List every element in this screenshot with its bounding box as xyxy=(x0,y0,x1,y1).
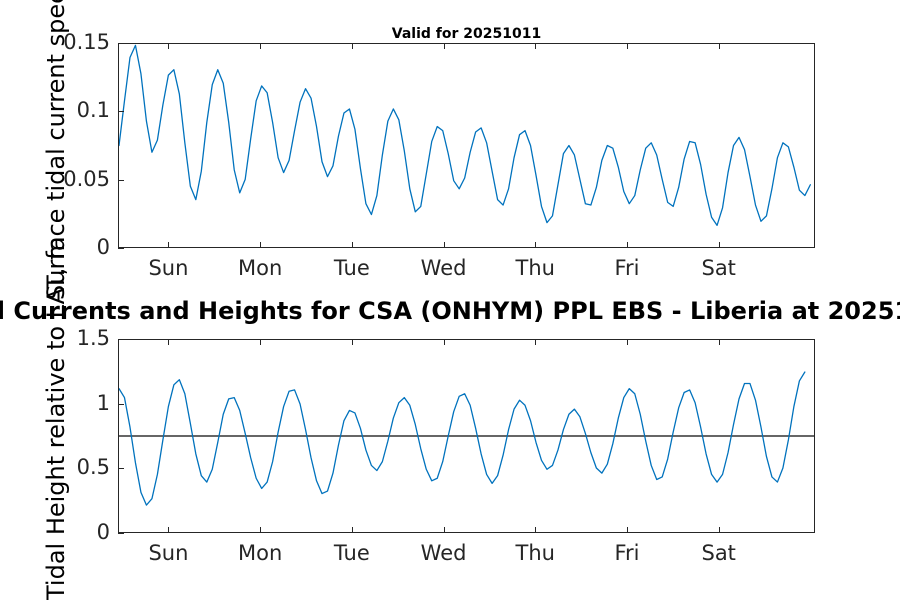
x-tick-label-0-1: Mon xyxy=(215,258,305,279)
x-tick-mark xyxy=(352,527,353,533)
y-tick-mark xyxy=(118,468,124,469)
x-tick-mark-top xyxy=(444,43,445,49)
x-tick-label-1-0: Sun xyxy=(123,543,213,564)
x-tick-mark-top xyxy=(260,43,261,49)
chart-tidal-height xyxy=(118,339,815,533)
y-tick-mark xyxy=(118,111,124,112)
x-tick-label-1-2: Tue xyxy=(307,543,397,564)
y-tick-label-0-2: 0.1 xyxy=(0,100,110,121)
x-tick-mark xyxy=(260,242,261,248)
x-tick-mark xyxy=(719,527,720,533)
x-tick-mark xyxy=(627,527,628,533)
tidal-height-plot-area xyxy=(119,340,814,532)
x-tick-mark-top xyxy=(719,339,720,345)
x-tick-mark-top xyxy=(719,43,720,49)
x-tick-mark xyxy=(719,242,720,248)
x-tick-mark-top xyxy=(627,339,628,345)
x-tick-mark xyxy=(627,242,628,248)
x-tick-label-0-2: Tue xyxy=(307,258,397,279)
x-tick-mark xyxy=(168,527,169,533)
tidal-figure: Valid for 20251011 Surface tidal current… xyxy=(0,0,900,600)
x-tick-label-1-1: Mon xyxy=(215,543,305,564)
chart-current-speed xyxy=(118,43,815,248)
y-tick-mark xyxy=(118,533,124,534)
x-tick-label-0-5: Fri xyxy=(582,258,672,279)
x-tick-mark-top xyxy=(535,339,536,345)
x-tick-mark-top xyxy=(352,43,353,49)
x-tick-mark-top xyxy=(444,339,445,345)
x-tick-label-0-6: Sat xyxy=(674,258,764,279)
page-title: Tidal Currents and Heights for CSA (ONHY… xyxy=(0,299,900,323)
x-tick-mark xyxy=(168,242,169,248)
subplot-title-valid-for: Valid for 20251011 xyxy=(118,27,815,41)
x-tick-mark xyxy=(535,527,536,533)
y-tick-mark xyxy=(118,180,124,181)
x-tick-mark xyxy=(444,242,445,248)
current-speed-line xyxy=(119,45,810,225)
y-tick-label-0-3: 0.15 xyxy=(0,32,110,53)
x-tick-label-0-4: Thu xyxy=(490,258,580,279)
x-tick-mark xyxy=(352,242,353,248)
y-tick-label-1-2: 1 xyxy=(0,393,110,414)
y-tick-mark xyxy=(118,339,124,340)
x-tick-mark-top xyxy=(535,43,536,49)
y-tick-label-1-0: 0 xyxy=(0,522,110,543)
y-axis-label-tidal-height: Tidal Height relative to LAT, m xyxy=(44,237,68,600)
x-tick-label-1-3: Wed xyxy=(399,543,489,564)
x-tick-label-0-3: Wed xyxy=(399,258,489,279)
y-tick-label-1-1: 0.5 xyxy=(0,457,110,478)
x-tick-mark-top xyxy=(352,339,353,345)
y-tick-label-0-1: 0.05 xyxy=(0,169,110,190)
x-tick-mark xyxy=(260,527,261,533)
y-tick-mark xyxy=(118,43,124,44)
x-tick-mark xyxy=(444,527,445,533)
x-tick-mark-top xyxy=(168,43,169,49)
y-tick-label-0-0: 0 xyxy=(0,237,110,258)
x-tick-mark-top xyxy=(627,43,628,49)
x-tick-mark-top xyxy=(168,339,169,345)
x-tick-mark-top xyxy=(260,339,261,345)
y-tick-mark xyxy=(118,248,124,249)
x-tick-label-1-6: Sat xyxy=(674,543,764,564)
tidal-height-line xyxy=(119,372,805,505)
y-tick-label-1-3: 1.5 xyxy=(0,328,110,349)
current-speed-plot-area xyxy=(119,44,814,247)
x-tick-label-0-0: Sun xyxy=(123,258,213,279)
x-tick-mark xyxy=(535,242,536,248)
x-tick-label-1-4: Thu xyxy=(490,543,580,564)
y-tick-mark xyxy=(118,404,124,405)
x-tick-label-1-5: Fri xyxy=(582,543,672,564)
